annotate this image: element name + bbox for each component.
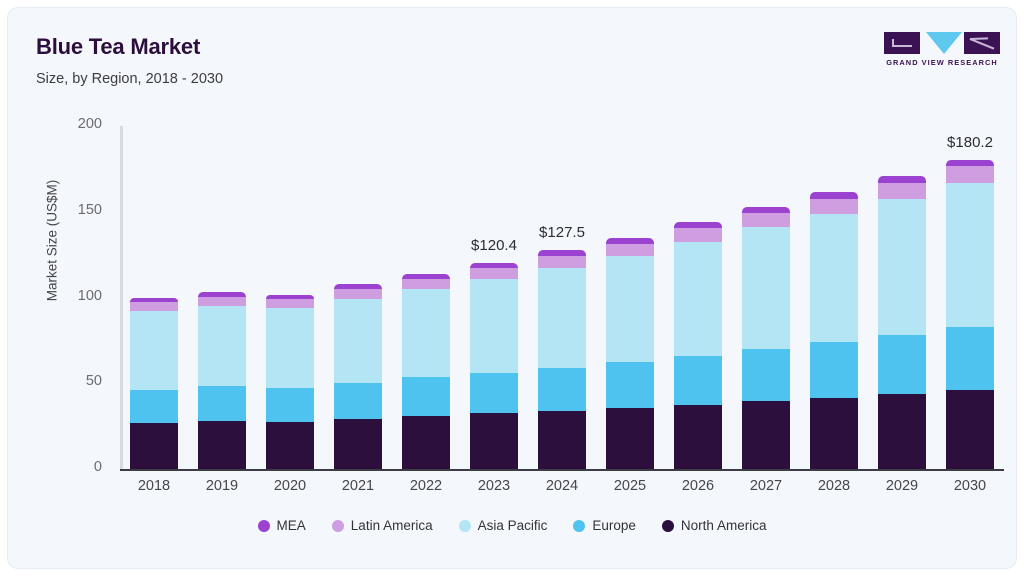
- x-axis-line: [120, 469, 1004, 471]
- bar-segment-latin-america[interactable]: [674, 228, 722, 241]
- bar-segment-asia-pacific[interactable]: [470, 279, 518, 373]
- bar-segment-latin-america[interactable]: [130, 302, 178, 311]
- logo-square-left-icon: [884, 32, 920, 54]
- legend-item-label: North America: [681, 518, 767, 533]
- bar-2019[interactable]: [198, 292, 246, 469]
- bar-segment-europe[interactable]: [538, 368, 586, 411]
- bar-2030[interactable]: [946, 160, 994, 469]
- bar-segment-europe[interactable]: [334, 383, 382, 419]
- legend-item-label: Asia Pacific: [478, 518, 548, 533]
- legend-item-label: Europe: [592, 518, 636, 533]
- legend-item-asia-pacific[interactable]: Asia Pacific: [459, 518, 548, 533]
- legend-item-europe[interactable]: Europe: [573, 518, 636, 533]
- bar-2022[interactable]: [402, 274, 450, 469]
- bar-segment-europe[interactable]: [946, 327, 994, 390]
- y-axis-tick-label: 150: [42, 202, 102, 218]
- y-axis-tick-label: 0: [42, 459, 102, 475]
- bar-2029[interactable]: [878, 176, 926, 469]
- bar-segment-europe[interactable]: [130, 390, 178, 423]
- bar-segment-asia-pacific[interactable]: [334, 299, 382, 383]
- legend-item-label: MEA: [277, 518, 306, 533]
- plot-area: 050100150200201820192020202120222023$120…: [120, 126, 1004, 469]
- circle-swatch-icon: [459, 520, 471, 532]
- bar-value-label-2024: $127.5: [502, 224, 622, 241]
- bar-segment-europe[interactable]: [742, 349, 790, 401]
- page-title: Blue Tea Market: [36, 34, 200, 60]
- bar-segment-latin-america[interactable]: [946, 166, 994, 183]
- bar-2023[interactable]: [470, 263, 518, 469]
- circle-swatch-icon: [332, 520, 344, 532]
- y-axis-tick-label: 50: [42, 373, 102, 389]
- bar-segment-latin-america[interactable]: [878, 183, 926, 199]
- bar-segment-europe[interactable]: [606, 362, 654, 408]
- bar-2028[interactable]: [810, 192, 858, 469]
- bar-segment-europe[interactable]: [878, 335, 926, 394]
- circle-swatch-icon: [662, 520, 674, 532]
- bar-2020[interactable]: [266, 295, 314, 469]
- bar-segment-north-america[interactable]: [538, 411, 586, 469]
- bar-segment-north-america[interactable]: [878, 394, 926, 469]
- grand-view-research-logo: GRAND VIEW RESEARCH: [884, 32, 1000, 66]
- bar-2024[interactable]: [538, 250, 586, 469]
- bar-value-label-2030: $180.2: [910, 134, 1016, 151]
- bar-segment-asia-pacific[interactable]: [946, 183, 994, 327]
- logo-accent-line-icon: [892, 45, 912, 47]
- y-axis-tick-label: 200: [42, 116, 102, 132]
- bar-segment-north-america[interactable]: [334, 419, 382, 469]
- bar-segment-north-america[interactable]: [674, 405, 722, 469]
- bar-segment-asia-pacific[interactable]: [674, 242, 722, 356]
- bar-2027[interactable]: [742, 207, 790, 469]
- circle-swatch-icon: [573, 520, 585, 532]
- bar-segment-asia-pacific[interactable]: [810, 214, 858, 343]
- bar-segment-asia-pacific[interactable]: [198, 306, 246, 387]
- x-axis-tick-label: 2030: [925, 478, 1015, 494]
- bar-2025[interactable]: [606, 238, 654, 470]
- legend-item-latin-america[interactable]: Latin America: [332, 518, 433, 533]
- logo-accent-tick-icon: [892, 39, 894, 46]
- legend-item-label: Latin America: [351, 518, 433, 533]
- bar-segment-asia-pacific[interactable]: [742, 227, 790, 349]
- bar-segment-north-america[interactable]: [266, 422, 314, 469]
- bar-segment-latin-america[interactable]: [198, 297, 246, 306]
- bar-segment-north-america[interactable]: [810, 398, 858, 469]
- bar-segment-latin-america[interactable]: [810, 199, 858, 214]
- bar-segment-latin-america[interactable]: [266, 299, 314, 308]
- y-axis-tick-label: 100: [42, 288, 102, 304]
- legend-item-north-america[interactable]: North America: [662, 518, 767, 533]
- bar-segment-asia-pacific[interactable]: [402, 289, 450, 377]
- logo-triangle-icon: [926, 32, 962, 54]
- bar-segment-north-america[interactable]: [742, 401, 790, 469]
- bar-segment-asia-pacific[interactable]: [878, 199, 926, 335]
- bar-segment-latin-america[interactable]: [470, 268, 518, 279]
- bar-segment-europe[interactable]: [402, 377, 450, 416]
- bar-segment-latin-america[interactable]: [742, 213, 790, 227]
- bar-2018[interactable]: [130, 298, 178, 469]
- bar-segment-latin-america[interactable]: [402, 279, 450, 289]
- y-axis-title: Market Size (US$M): [45, 141, 60, 341]
- bar-segment-asia-pacific[interactable]: [606, 256, 654, 362]
- circle-swatch-icon: [258, 520, 270, 532]
- bar-segment-latin-america[interactable]: [538, 256, 586, 268]
- bar-segment-europe[interactable]: [674, 356, 722, 405]
- bar-segment-north-america[interactable]: [606, 408, 654, 469]
- bar-segment-north-america[interactable]: [402, 416, 450, 469]
- bar-segment-north-america[interactable]: [946, 390, 994, 469]
- bar-segment-europe[interactable]: [198, 386, 246, 420]
- y-axis-line: [120, 126, 123, 469]
- bar-segment-asia-pacific[interactable]: [538, 268, 586, 368]
- bar-segment-mea[interactable]: [878, 176, 926, 183]
- bar-segment-latin-america[interactable]: [606, 244, 654, 257]
- chart-legend: MEALatin AmericaAsia PacificEuropeNorth …: [8, 518, 1016, 533]
- page-subtitle: Size, by Region, 2018 - 2030: [36, 71, 223, 87]
- bar-segment-asia-pacific[interactable]: [130, 311, 178, 390]
- bar-2026[interactable]: [674, 222, 722, 469]
- logo-wordmark: GRAND VIEW RESEARCH: [884, 58, 1000, 67]
- bar-segment-latin-america[interactable]: [334, 289, 382, 298]
- bar-segment-mea[interactable]: [810, 192, 858, 199]
- bar-segment-europe[interactable]: [470, 373, 518, 414]
- bar-segment-europe[interactable]: [266, 388, 314, 422]
- bar-segment-europe[interactable]: [810, 342, 858, 397]
- bar-segment-north-america[interactable]: [198, 421, 246, 469]
- bar-segment-north-america[interactable]: [470, 413, 518, 469]
- chart-card: Blue Tea Market Size, by Region, 2018 - …: [8, 8, 1016, 568]
- bar-segment-north-america[interactable]: [130, 423, 178, 469]
- legend-item-mea[interactable]: MEA: [258, 518, 306, 533]
- bar-segment-asia-pacific[interactable]: [266, 308, 314, 388]
- bar-2021[interactable]: [334, 284, 382, 469]
